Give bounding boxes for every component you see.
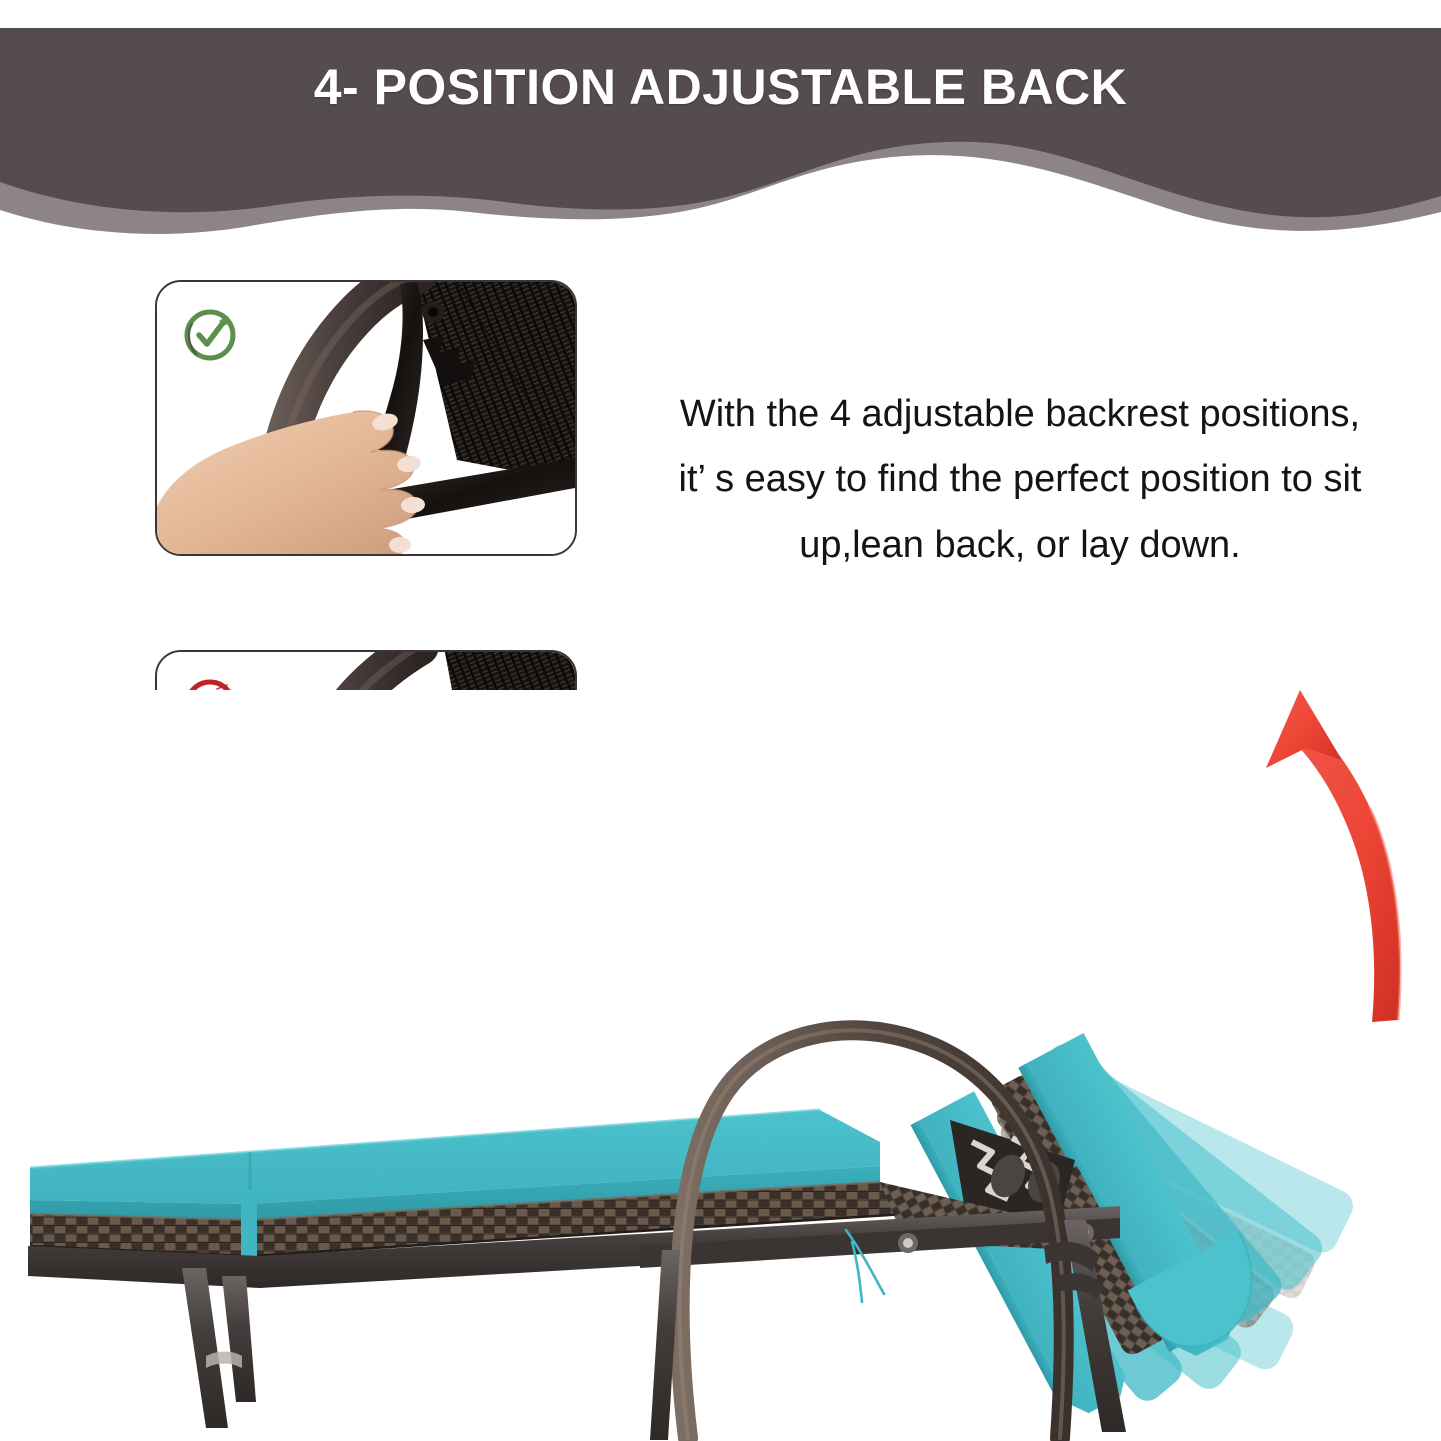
inset-card-correct-usage: [155, 280, 577, 556]
description-line-3: up,lean back, or lay down.: [620, 513, 1420, 578]
header-wave-dark: [0, 28, 1441, 217]
header-wave-graphic: [0, 0, 1441, 260]
chaise-lounge-graphic: [0, 690, 1441, 1441]
description-text: With the 4 adjustable backrest positions…: [620, 382, 1420, 578]
product-illustration: [0, 690, 1441, 1441]
page-title: 4- POSITION ADJUSTABLE BACK: [0, 58, 1441, 116]
check-circle-icon: [179, 304, 241, 366]
description-line-2: it’ s easy to find the perfect position …: [620, 447, 1420, 512]
description-line-1: With the 4 adjustable backrest positions…: [620, 382, 1420, 447]
product-feature-page: 4- POSITION ADJUSTABLE BACK: [0, 0, 1441, 1441]
header-banner: 4- POSITION ADJUSTABLE BACK: [0, 0, 1441, 260]
